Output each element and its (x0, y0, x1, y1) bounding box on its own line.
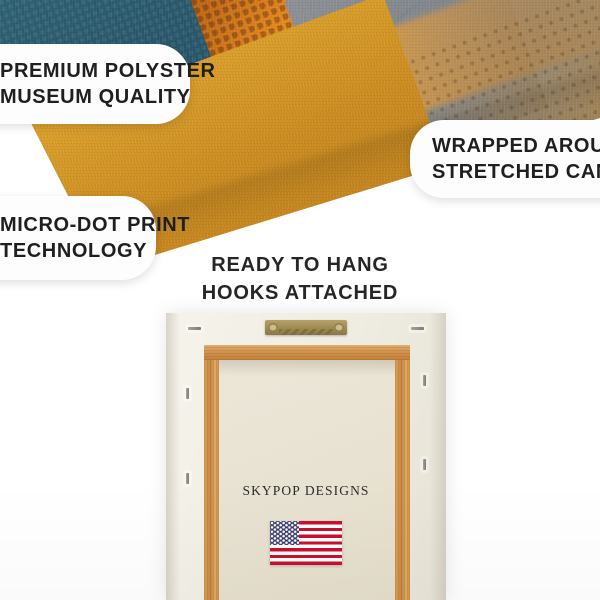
canvas-staple (186, 388, 189, 399)
caption-line-1: READY TO HANG (0, 252, 600, 280)
callout-line-1: PREMIUM POLYSTER (0, 58, 164, 84)
callout-line-2: STRETCHED CANVAS (432, 159, 600, 185)
canvas-staple (188, 327, 201, 330)
sawtooth-hanger-icon (265, 320, 347, 335)
canvas-staple (423, 375, 426, 386)
callout-line-1: MICRO-DOT PRINT (0, 212, 130, 238)
caption-line-2: HOOKS ATTACHED (0, 280, 600, 308)
canvas-inner-shadow (219, 360, 395, 376)
canvas-back-photo: SKYPOP DESIGNS (166, 313, 446, 600)
flag-stars (270, 521, 299, 545)
brand-label: SKYPOP DESIGNS (166, 483, 446, 499)
canvas-left-shading (166, 313, 180, 600)
callout-line-1: WRAPPED AROUND (432, 133, 600, 159)
product-infographic: PREMIUM POLYSTER MUSEUM QUALITY WRAPPED … (0, 0, 600, 600)
stretcher-bar-left (204, 345, 219, 600)
canvas-staple (423, 459, 426, 470)
flag-canton (270, 521, 299, 545)
callout-line-2: MUSEUM QUALITY (0, 84, 164, 110)
callout-wrapped-around: WRAPPED AROUND STRETCHED CANVAS (410, 120, 600, 198)
caption-ready-to-hang: READY TO HANG HOOKS ATTACHED (0, 252, 600, 307)
us-flag-icon (270, 521, 342, 565)
canvas-right-shading (430, 313, 446, 600)
stretcher-bar-top (204, 345, 410, 360)
canvas-staple (411, 327, 424, 330)
hanger-sawtooth-teeth (279, 329, 333, 335)
hanger-screw-hole-right (334, 323, 344, 332)
stretcher-bar-right (395, 345, 410, 600)
hanger-screw-hole-left (268, 323, 278, 332)
callout-premium-polyster: PREMIUM POLYSTER MUSEUM QUALITY (0, 44, 190, 124)
